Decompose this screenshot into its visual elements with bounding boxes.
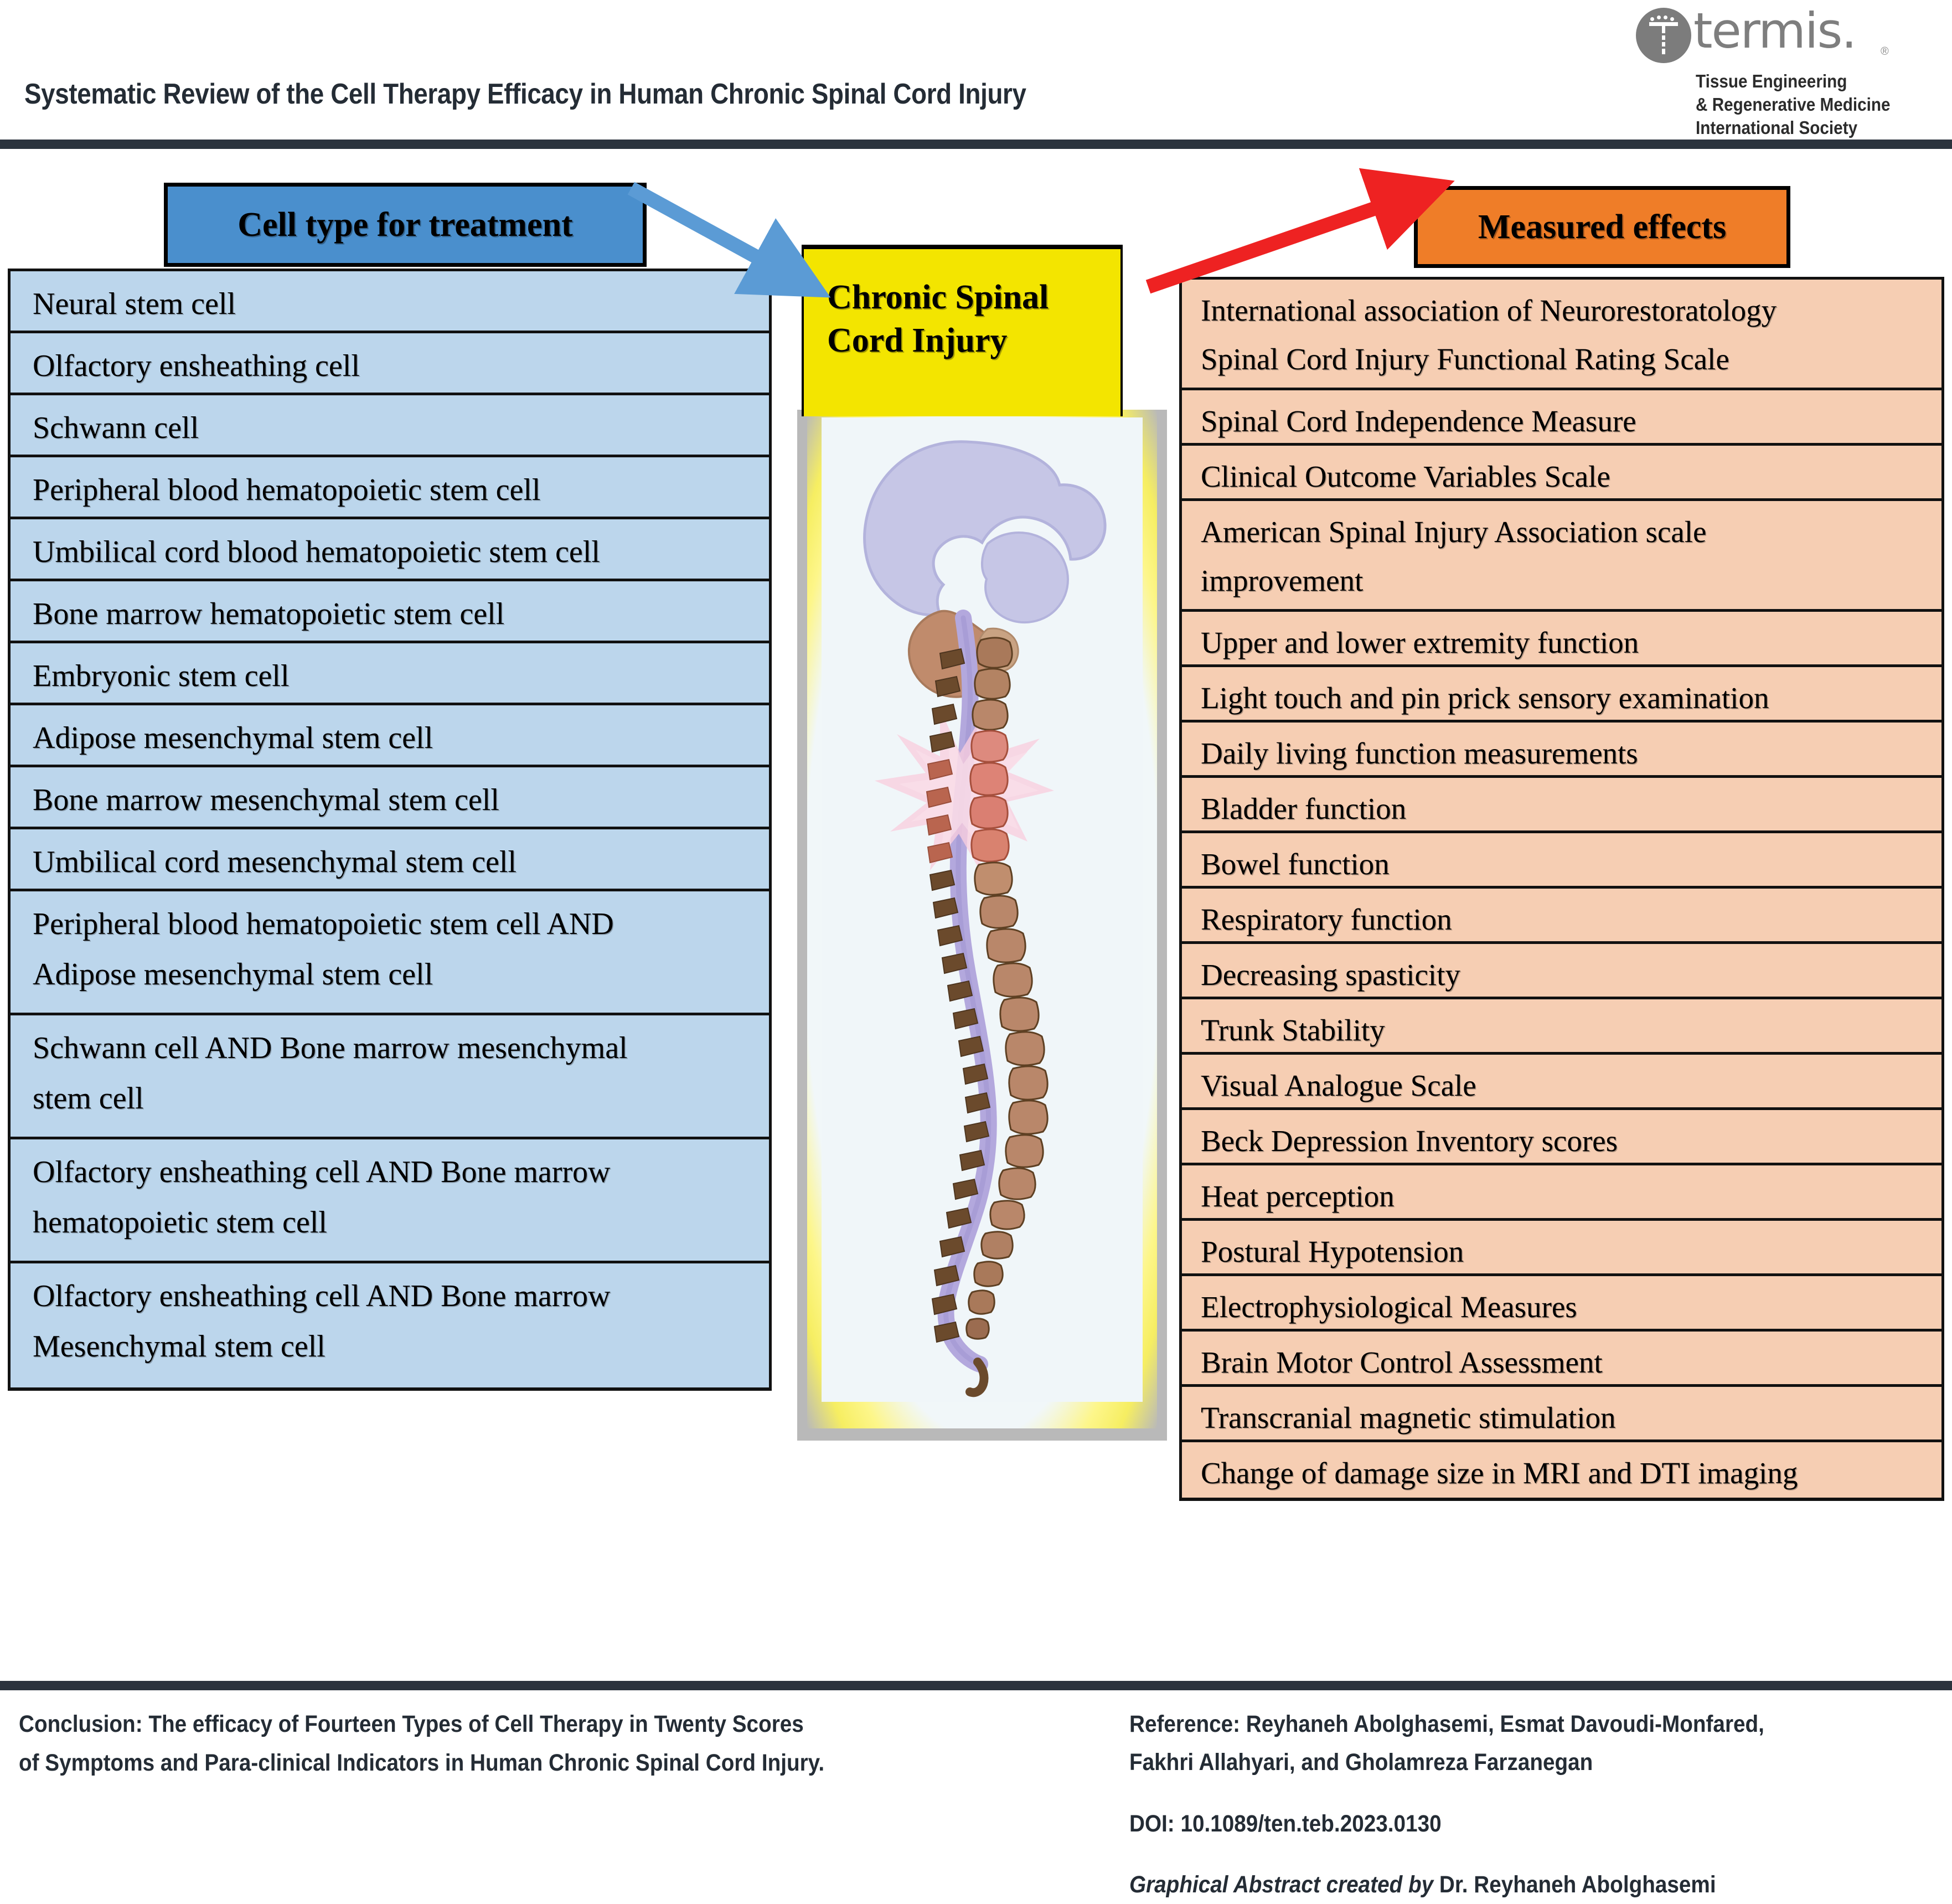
chronic-spinal-cord-injury-label-line: Chronic Spinal (827, 276, 1120, 319)
measured-effect-item-row: Electrophysiological Measures (1182, 1276, 1941, 1332)
cell-type-item-row: Olfactory ensheathing cell (11, 333, 769, 395)
cell-type-item-label: Umbilical cord mesenchymal stem cell (33, 837, 769, 887)
measured-effect-item-label: American Spinal Injury Association scale (1201, 508, 1941, 556)
measured-effect-item-row: Brain Motor Control Assessment (1182, 1332, 1941, 1387)
cell-type-item-row: Peripheral blood hematopoietic stem cell… (11, 891, 769, 1015)
measured-effect-item-row: Beck Depression Inventory scores (1182, 1110, 1941, 1165)
measured-effect-item-label: International association of Neurorestor… (1201, 286, 1941, 335)
measured-effect-item-row: Daily living function measurements (1182, 723, 1941, 778)
measured-effect-item-row: Transcranial magnetic stimulation (1182, 1387, 1941, 1442)
measured-effect-item-row: Upper and lower extremity function (1182, 612, 1941, 667)
measured-effects-list: International association of Neurorestor… (1179, 277, 1944, 1501)
cell-type-item-label: Embryonic stem cell (33, 651, 769, 701)
termis-caduceus-icon (1636, 8, 1691, 63)
measured-effect-item-row: Light touch and pin prick sensory examin… (1182, 667, 1941, 723)
cell-type-item-row: Bone marrow mesenchymal stem cell (11, 767, 769, 829)
termis-logo: termis. ® Tissue Engineering & Regenerat… (1636, 4, 1924, 132)
cell-type-item-row: Schwann cell (11, 395, 769, 457)
conclusion-line: Conclusion: The efficacy of Fourteen Typ… (19, 1705, 985, 1744)
termis-wordmark: termis. (1693, 7, 1856, 55)
cell-type-item-label: Umbilical cord blood hematopoietic stem … (33, 527, 769, 577)
chronic-spinal-cord-injury-label: Chronic SpinalCord Injury (802, 245, 1123, 416)
footer-divider (0, 1681, 1952, 1690)
cell-type-item-row: Umbilical cord mesenchymal stem cell (11, 829, 769, 891)
measured-effect-item-label: improvement (1201, 556, 1941, 605)
cell-type-item-label: Mesenchymal stem cell (33, 1322, 769, 1372)
measured-effect-item-label: Upper and lower extremity function (1201, 618, 1941, 667)
reference-line-2: Fakhri Allahyari, and Gholamreza Farzane… (1129, 1743, 1862, 1782)
measured-effect-item-row: Spinal Cord Independence Measure (1182, 390, 1941, 446)
measured-effect-item-row: Bowel function (1182, 833, 1941, 889)
logo-subtitle-line-3: International Society (1696, 116, 1891, 140)
measured-effect-item-label: Decreasing spasticity (1201, 951, 1941, 999)
measured-effect-item-row: Respiratory function (1182, 889, 1941, 944)
measured-effect-item-row: Change of damage size in MRI and DTI ima… (1182, 1442, 1941, 1498)
credit-italic-text: Graphical Abstract created by (1129, 1871, 1433, 1898)
cell-type-item-row: Adipose mesenchymal stem cell (11, 705, 769, 767)
measured-effect-item-label: Electrophysiological Measures (1201, 1283, 1941, 1332)
measured-effect-item-row: Visual Analogue Scale (1182, 1055, 1941, 1110)
measured-effect-item-row: Decreasing spasticity (1182, 944, 1941, 999)
cell-type-item-label: Bone marrow mesenchymal stem cell (33, 775, 769, 825)
measured-effect-item-label: Change of damage size in MRI and DTI ima… (1201, 1449, 1941, 1498)
measured-effect-item-row: International association of Neurorestor… (1182, 280, 1941, 390)
measured-effect-item-label: Visual Analogue Scale (1201, 1061, 1941, 1110)
measured-effect-item-label: Postural Hypotension (1201, 1227, 1941, 1276)
measured-effect-item-label: Spinal Cord Independence Measure (1201, 397, 1941, 446)
logo-subtitle-line-2: & Regenerative Medicine (1696, 93, 1891, 116)
measured-effect-item-label: Clinical Outcome Variables Scale (1201, 452, 1941, 501)
cell-type-item-label: Bone marrow hematopoietic stem cell (33, 589, 769, 639)
page-title: Systematic Review of the Cell Therapy Ef… (24, 78, 1194, 111)
reference-line-1: Reference: Reyhaneh Abolghasemi, Esmat D… (1129, 1705, 1862, 1743)
cell-type-item-label: hematopoietic stem cell (33, 1198, 769, 1248)
cell-type-list: Neural stem cellOlfactory ensheathing ce… (8, 269, 772, 1391)
measured-effect-item-row: Bladder function (1182, 778, 1941, 833)
measured-effect-item-label: Spinal Cord Injury Functional Rating Sca… (1201, 335, 1941, 384)
cell-type-item-label: Schwann cell (33, 403, 769, 453)
cell-type-item-row: Schwann cell AND Bone marrow mesenchymal… (11, 1015, 769, 1139)
measured-effect-item-label: Respiratory function (1201, 895, 1941, 944)
measured-effect-item-label: Daily living function measurements (1201, 729, 1941, 778)
measured-effects-column-header: Measured effects (1414, 186, 1790, 268)
measured-effect-item-label: Light touch and pin prick sensory examin… (1201, 674, 1941, 723)
cell-type-item-label: Adipose mesenchymal stem cell (33, 713, 769, 763)
cell-type-item-label: Peripheral blood hematopoietic stem cell… (33, 899, 769, 950)
cell-type-item-label: Adipose mesenchymal stem cell (33, 950, 769, 1000)
measured-effect-item-row: American Spinal Injury Association scale… (1182, 501, 1941, 612)
cell-type-item-row: Bone marrow hematopoietic stem cell (11, 581, 769, 643)
registered-trademark-icon: ® (1881, 45, 1889, 58)
conclusion-line: of Symptoms and Para-clinical Indicators… (19, 1744, 985, 1783)
chronic-spinal-cord-injury-label-line: Cord Injury (827, 319, 1120, 362)
measured-effect-item-label: Bladder function (1201, 785, 1941, 833)
cell-type-item-label: Olfactory ensheathing cell AND Bone marr… (33, 1147, 769, 1198)
doi-text: DOI: 10.1089/ten.teb.2023.0130 (1129, 1805, 1862, 1843)
measured-effect-item-label: Transcranial magnetic stimulation (1201, 1394, 1941, 1442)
measured-effect-item-row: Heat perception (1182, 1165, 1941, 1221)
measured-effect-item-label: Beck Depression Inventory scores (1201, 1117, 1941, 1165)
measured-effect-item-label: Trunk Stability (1201, 1006, 1941, 1055)
measured-effect-item-row: Clinical Outcome Variables Scale (1182, 446, 1941, 501)
logo-subtitle-line-1: Tissue Engineering (1696, 70, 1891, 93)
measured-effect-item-label: Bowel function (1201, 840, 1941, 889)
cell-type-item-row: Olfactory ensheathing cell AND Bone marr… (11, 1139, 769, 1263)
measured-effect-item-row: Postural Hypotension (1182, 1221, 1941, 1276)
cell-type-item-row: Olfactory ensheathing cell AND Bone marr… (11, 1263, 769, 1387)
cell-type-item-row: Umbilical cord blood hematopoietic stem … (11, 519, 769, 581)
measured-effect-item-row: Trunk Stability (1182, 999, 1941, 1055)
reference-block: Reference: Reyhaneh Abolghasemi, Esmat D… (1129, 1705, 1862, 1904)
cell-type-item-label: Neural stem cell (33, 279, 769, 329)
brain-and-injured-spine-illustration (822, 421, 1143, 1423)
credit-author-name: Dr. Reyhaneh Abolghasemi (1433, 1871, 1716, 1898)
conclusion-text: Conclusion: The efficacy of Fourteen Typ… (19, 1705, 985, 1782)
cell-type-item-row: Peripheral blood hematopoietic stem cell (11, 457, 769, 519)
measured-effect-item-label: Heat perception (1201, 1172, 1941, 1221)
cell-type-item-label: Olfactory ensheathing cell AND Bone marr… (33, 1271, 769, 1322)
cell-type-item-row: Embryonic stem cell (11, 643, 769, 705)
cell-type-item-label: Schwann cell AND Bone marrow mesenchymal (33, 1023, 769, 1074)
cell-type-item-label: Peripheral blood hematopoietic stem cell (33, 465, 769, 515)
cell-type-item-row: Neural stem cell (11, 271, 769, 333)
measured-effect-item-label: Brain Motor Control Assessment (1201, 1338, 1941, 1387)
cell-type-item-label: stem cell (33, 1074, 769, 1124)
cell-type-column-header: Cell type for treatment (164, 183, 647, 267)
header-divider (0, 140, 1952, 149)
cell-type-item-label: Olfactory ensheathing cell (33, 341, 769, 391)
